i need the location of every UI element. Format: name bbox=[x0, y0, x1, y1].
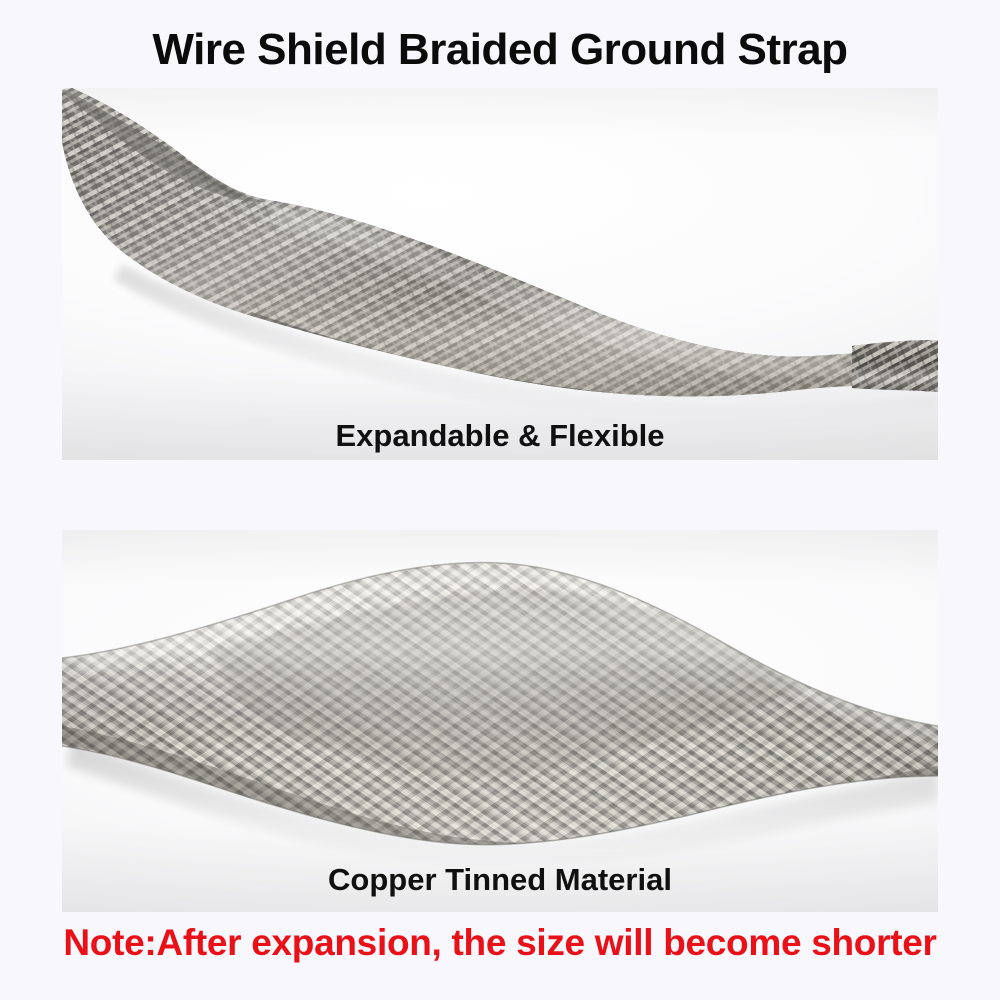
product-marketing-image: Wire Shield Braided Ground Strap bbox=[0, 0, 1000, 1000]
braid-illustration-compressed bbox=[62, 88, 938, 460]
braid-illustration-expanded bbox=[62, 530, 938, 912]
expansion-note: Note:After expansion, the size will beco… bbox=[0, 922, 1000, 964]
page-title: Wire Shield Braided Ground Strap bbox=[0, 28, 1000, 72]
braided-ground-strap-compressed-photo bbox=[62, 88, 938, 460]
braided-ground-strap-expanded-photo bbox=[62, 530, 938, 912]
caption-expandable-flexible: Expandable & Flexible bbox=[62, 418, 938, 454]
caption-copper-tinned-material: Copper Tinned Material bbox=[62, 862, 938, 898]
